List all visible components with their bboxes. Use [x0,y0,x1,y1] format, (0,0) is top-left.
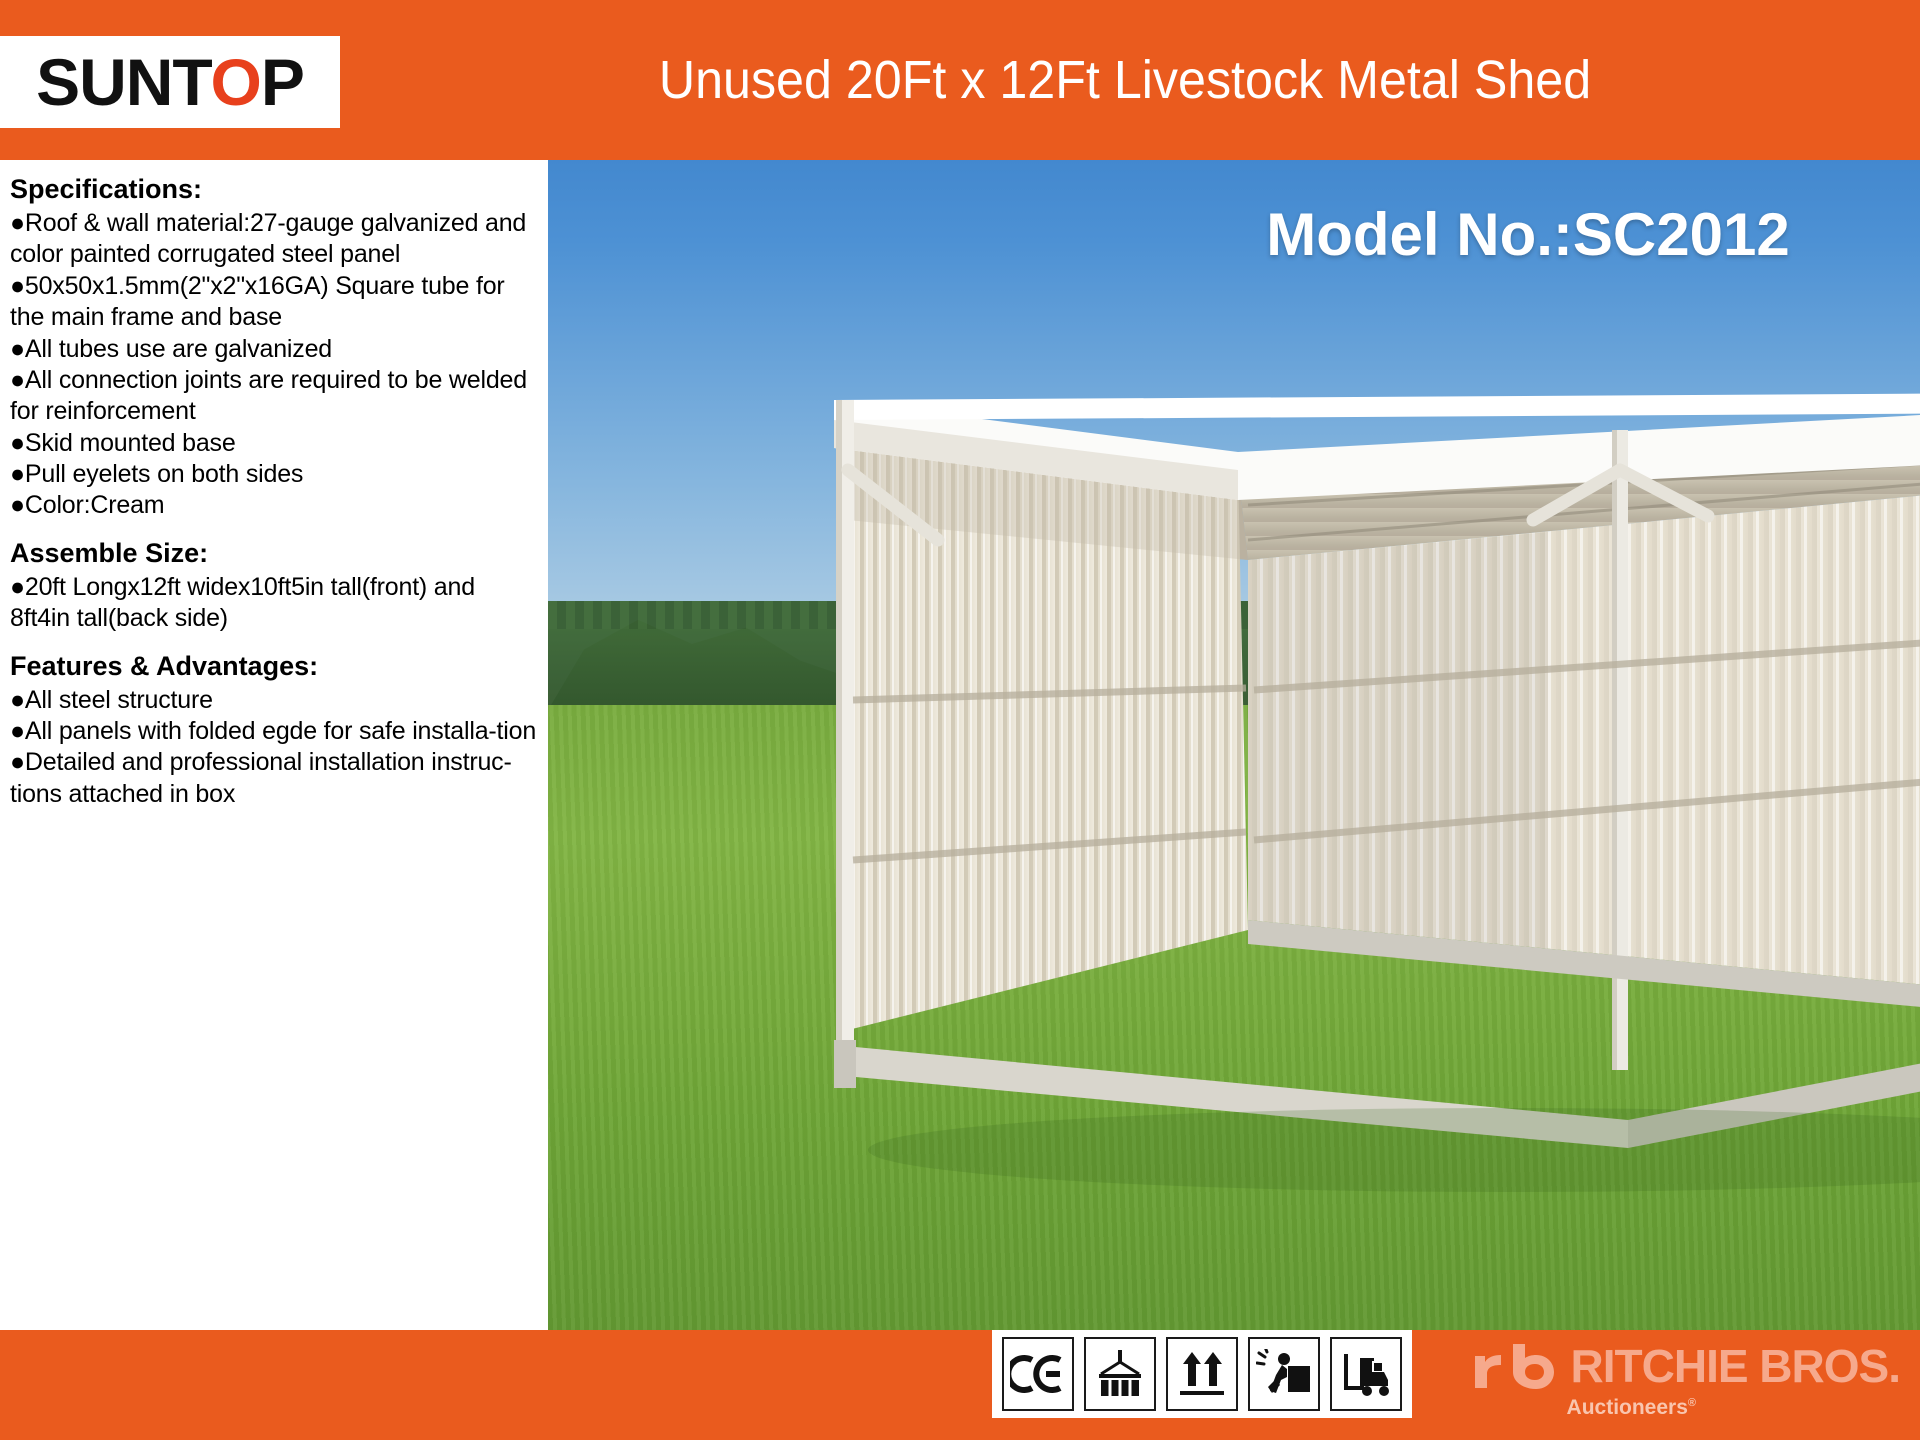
assemble-size-heading: Assemble Size: [10,536,540,570]
logo-part-1: SUNT [36,45,210,119]
ritchie-bros-name: RITCHIE BROS. [1571,1343,1900,1389]
spec-item: ●Color:Cream [10,490,540,521]
ritchie-bros-logo: RITCHIE BROS. Auctioneers® [1471,1342,1900,1418]
header-bar: SUNTOP Unused 20Ft x 12Ft Livestock Meta… [0,0,1920,160]
features-heading: Features & Advantages: [10,649,540,683]
assemble-size-item: ●20ft Longx12ft widex10ft5in tall(front)… [10,572,540,635]
ritchie-bros-tagline: Auctioneers [1567,1396,1688,1419]
product-photo: Model No.:SC2012 [548,0,1920,1440]
left-panel-filler [0,1275,548,1330]
model-number-label: Model No.:SC2012 [1148,200,1908,269]
suntop-logo-text: SUNTOP [36,49,304,115]
spec-item: ●All tubes use are galvanized [10,334,540,365]
spec-item: ●All connection joints are required to b… [10,365,540,428]
specifications-panel: Specifications: ●Roof & wall material:27… [0,160,548,1275]
logo-letter-o: O [211,45,261,119]
page-title: Unused 20Ft x 12Ft Livestock Metal Shed [414,0,1837,160]
spec-item: ●50x50x1.5mm(2"x2"x16GA) Square tube for… [10,271,540,334]
feature-item: ●All panels with folded egde for safe in… [10,716,540,747]
shipping-icons-row [992,1330,1412,1418]
forklift-icon [1330,1337,1402,1411]
container-lifting-icon [1084,1337,1156,1411]
spec-item: ●Pull eyelets on both sides [10,459,540,490]
ce-mark-icon [1002,1337,1074,1411]
rb-monogram-icon [1471,1342,1557,1390]
suntop-logo: SUNTOP [0,36,340,128]
feature-item: ●Detailed and professional installation … [10,747,540,810]
this-side-up-icon [1166,1337,1238,1411]
handle-with-care-icon [1248,1337,1320,1411]
spec-item: ●Roof & wall material:27-gauge galvanize… [10,208,540,271]
spec-item: ●Skid mounted base [10,428,540,459]
feature-item: ●All steel structure [10,685,540,716]
logo-part-2: P [261,45,304,119]
specifications-heading: Specifications: [10,172,540,206]
